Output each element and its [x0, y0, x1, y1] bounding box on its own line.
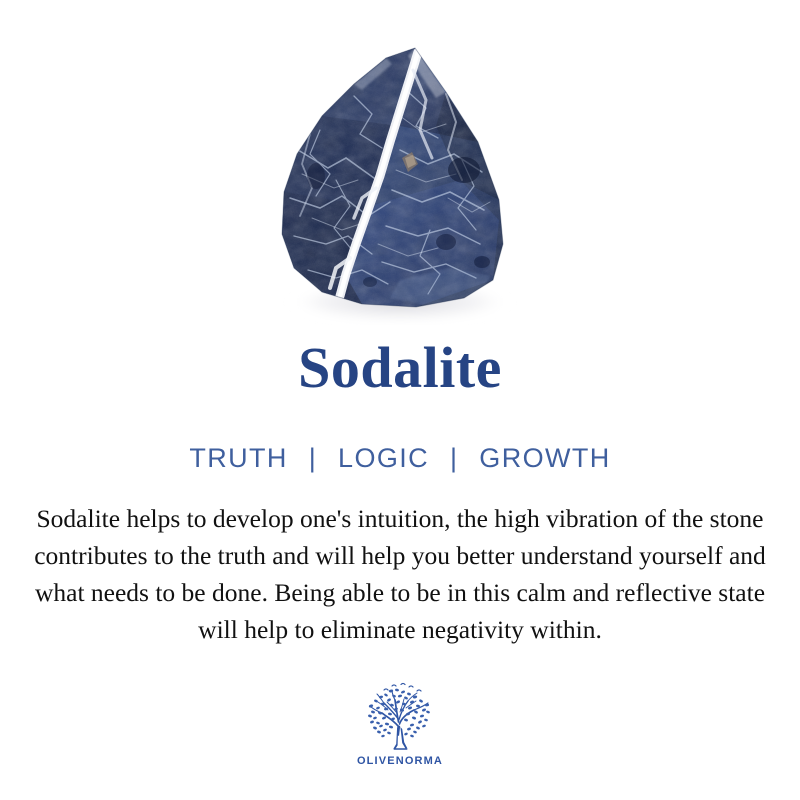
- keyword-logic: LOGIC: [338, 443, 429, 473]
- keyword-growth: GROWTH: [479, 443, 610, 473]
- tree-icon: [362, 682, 438, 754]
- keyword-truth: TRUTH: [189, 443, 287, 473]
- keyword-separator-1: |: [297, 443, 329, 473]
- sodalite-info-card: Sodalite TRUTH | LOGIC | GROWTH Sodalite…: [0, 0, 800, 800]
- description-text: Sodalite helps to develop one's intuitio…: [18, 500, 782, 648]
- page-title: Sodalite: [0, 336, 800, 400]
- brand-wordmark: OLIVENORMA: [350, 755, 450, 767]
- keyword-separator-2: |: [438, 443, 470, 473]
- keyword-line: TRUTH | LOGIC | GROWTH: [0, 442, 800, 474]
- sodalite-crystal-point: [250, 30, 550, 325]
- brand-logo: OLIVENORMA: [350, 682, 450, 782]
- crystal-image-area: [0, 0, 800, 325]
